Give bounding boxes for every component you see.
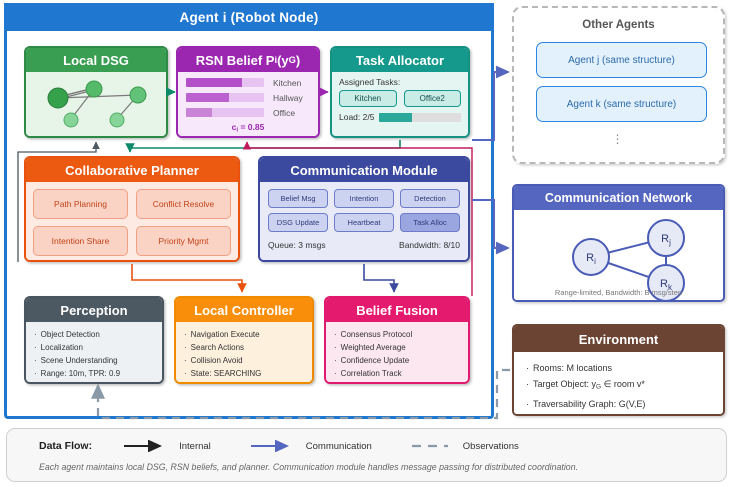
list-item-target: Target Object: yG ∈ room v* — [526, 376, 711, 396]
other-agents-title: Other Agents — [514, 19, 723, 31]
legend-item-internal: Internal — [122, 440, 211, 452]
rsn-title-main: RSN Belief P — [196, 53, 275, 68]
belief-bar-fill — [186, 93, 229, 102]
local-controller-list: Navigation Execute Search Actions Collis… — [184, 328, 304, 380]
legend-row: Data Flow: Internal Communication — [39, 440, 557, 452]
list-item: Confidence Update — [334, 354, 460, 367]
belief-row: Hallway — [186, 92, 310, 103]
queue-status: Queue: 3 msgs — [268, 240, 326, 250]
communication-network-caption: Range-limited, Bandwidth: B msg/step — [514, 288, 723, 297]
belief-bar-track — [186, 93, 264, 102]
bandwidth-status: Bandwidth: 8/10 — [399, 240, 460, 250]
task-allocator-body: Assigned Tasks: Kitchen Office2 Load: 2/… — [332, 72, 468, 138]
collaborative-planner-card: Collaborative Planner Path Planning Conf… — [24, 156, 240, 262]
planner-cell[interactable]: Path Planning — [33, 189, 128, 219]
rsn-title-close: ) — [296, 53, 300, 68]
communication-network-panel: Communication Network Ri Rj Rk Range-lim… — [512, 184, 725, 302]
perception-list: Object Detection Localization Scene Unde… — [34, 328, 154, 380]
legend-item-communication: Communication — [249, 440, 372, 452]
rsn-title-y: (y — [277, 53, 289, 68]
communication-module-title: Communication Module — [260, 158, 468, 182]
legend-item-observations: Observations — [410, 440, 519, 452]
rsn-title-sub-g: G — [289, 55, 296, 65]
list-item: Traversability Graph: G(V,E) — [526, 396, 711, 412]
communication-module-body: Belief Msg Intention Detection DSG Updat… — [260, 182, 468, 262]
list-item: Correlation Track — [334, 367, 460, 380]
dsg-graph — [26, 72, 166, 138]
task-allocator-card: Task Allocator Assigned Tasks: Kitchen O… — [330, 46, 470, 138]
belief-fusion-body: Consensus Protocol Weighted Average Conf… — [326, 322, 468, 384]
target-prefix: Target Object: y — [533, 379, 596, 389]
message-chip[interactable]: Detection — [400, 189, 460, 208]
diagram-canvas: Agent i (Robot Node) Local DSG — [0, 0, 733, 487]
local-controller-card: Local Controller Navigation Execute Sear… — [174, 296, 314, 384]
list-item: Collision Avoid — [184, 354, 304, 367]
communication-stats: Queue: 3 msgs Bandwidth: 8/10 — [268, 240, 460, 250]
belief-bar-track — [186, 78, 264, 87]
legend-title: Data Flow: — [39, 440, 92, 452]
belief-label: Hallway — [273, 93, 303, 103]
belief-bar-track — [186, 108, 264, 117]
message-chip-grid: Belief Msg Intention Detection DSG Updat… — [268, 189, 460, 232]
planner-grid: Path Planning Conflict Resolve Intention… — [33, 189, 231, 256]
belief-label: Office — [273, 108, 295, 118]
rsn-belief-title: RSN Belief Pi(yG) — [178, 48, 318, 72]
belief-label: Kitchen — [273, 78, 301, 88]
environment-title: Environment — [514, 326, 723, 352]
message-chip[interactable]: Belief Msg — [268, 189, 328, 208]
more-agents-ellipsis: ⋮ — [514, 132, 723, 146]
list-item: Scene Understanding — [34, 354, 154, 367]
perception-body: Object Detection Localization Scene Unde… — [26, 322, 162, 384]
local-controller-body: Navigation Execute Search Actions Collis… — [176, 322, 312, 384]
legend-label: Internal — [179, 441, 211, 452]
message-chip[interactable]: DSG Update — [268, 213, 328, 232]
load-bar-fill — [379, 113, 412, 122]
belief-fusion-list: Consensus Protocol Weighted Average Conf… — [334, 328, 460, 380]
rsn-belief-card: RSN Belief Pi(yG) Kitchen Hallway Office… — [176, 46, 320, 138]
list-item: State: SEARCHING — [184, 367, 304, 380]
agent-j-box[interactable]: Agent j (same structure) — [536, 42, 707, 78]
task-chip[interactable]: Office2 — [404, 90, 462, 107]
planner-cell[interactable]: Conflict Resolve — [136, 189, 231, 219]
other-agents-panel: Other Agents Agent j (same structure) Ag… — [512, 6, 725, 164]
belief-fusion-title: Belief Fusion — [326, 298, 468, 322]
collaborative-planner-body: Path Planning Conflict Resolve Intention… — [26, 182, 238, 262]
belief-row: Office — [186, 107, 310, 118]
communication-module-card: Communication Module Belief Msg Intentio… — [258, 156, 470, 262]
task-chip[interactable]: Kitchen — [339, 90, 397, 107]
environment-body: Rooms: M locations Target Object: yG ∈ r… — [514, 352, 723, 416]
legend-note: Each agent maintains local DSG, RSN beli… — [39, 462, 578, 472]
legend-label: Observations — [463, 441, 519, 452]
observations-dashed-icon — [410, 440, 454, 452]
local-controller-title: Local Controller — [176, 298, 312, 322]
legend-panel: Data Flow: Internal Communication — [6, 428, 727, 482]
perception-card: Perception Object Detection Localization… — [24, 296, 164, 384]
assigned-tasks-row: Kitchen Office2 — [339, 90, 461, 107]
load-label: Load: 2/5 — [339, 112, 374, 122]
local-dsg-card: Local DSG — [24, 46, 168, 138]
belief-fusion-card: Belief Fusion Consensus Protocol Weighte… — [324, 296, 470, 384]
message-chip[interactable]: Heartbeat — [334, 213, 394, 232]
local-dsg-body — [26, 72, 166, 138]
list-item: Weighted Average — [334, 341, 460, 354]
legend-label: Communication — [306, 441, 372, 452]
list-item: Search Actions — [184, 341, 304, 354]
internal-arrow-icon — [122, 440, 170, 452]
planner-cell[interactable]: Intention Share — [33, 226, 128, 256]
environment-list: Rooms: M locations Target Object: yG ∈ r… — [526, 360, 711, 412]
collaborative-planner-title: Collaborative Planner — [26, 158, 238, 182]
belief-row: Kitchen — [186, 77, 310, 88]
confidence-value: = 0.85 — [238, 122, 264, 132]
belief-bar-fill — [186, 78, 242, 87]
load-bar-track — [379, 113, 461, 122]
list-item: Range: 10m, TPR: 0.9 — [34, 367, 154, 380]
list-item: Consensus Protocol — [334, 328, 460, 341]
task-allocator-title: Task Allocator — [332, 48, 468, 72]
message-chip-active[interactable]: Task Alloc — [400, 213, 460, 232]
list-item: Navigation Execute — [184, 328, 304, 341]
target-suffix: ∈ room v* — [601, 379, 645, 389]
assigned-tasks-label: Assigned Tasks: — [339, 77, 461, 87]
load-row: Load: 2/5 — [339, 112, 461, 122]
agent-k-box[interactable]: Agent k (same structure) — [536, 86, 707, 122]
list-item: Localization — [34, 341, 154, 354]
belief-bar-fill — [186, 108, 212, 117]
message-chip[interactable]: Intention — [334, 189, 394, 208]
communication-network-body: Ri Rj Rk Range-limited, Bandwidth: B msg… — [514, 210, 723, 300]
list-item: Rooms: M locations — [526, 360, 711, 376]
network-graph: Ri Rj Rk — [514, 210, 723, 300]
local-dsg-title: Local DSG — [26, 48, 166, 72]
perception-title: Perception — [26, 298, 162, 322]
planner-cell[interactable]: Priority Mgmt — [136, 226, 231, 256]
communication-network-title: Communication Network — [514, 186, 723, 210]
list-item: Object Detection — [34, 328, 154, 341]
communication-arrow-icon — [249, 440, 297, 452]
agent-panel-title: Agent i (Robot Node) — [4, 3, 494, 31]
belief-confidence: ci = 0.85 — [186, 122, 310, 134]
environment-panel: Environment Rooms: M locations Target Ob… — [512, 324, 725, 416]
rsn-belief-body: Kitchen Hallway Office ci = 0.85 — [178, 72, 318, 138]
